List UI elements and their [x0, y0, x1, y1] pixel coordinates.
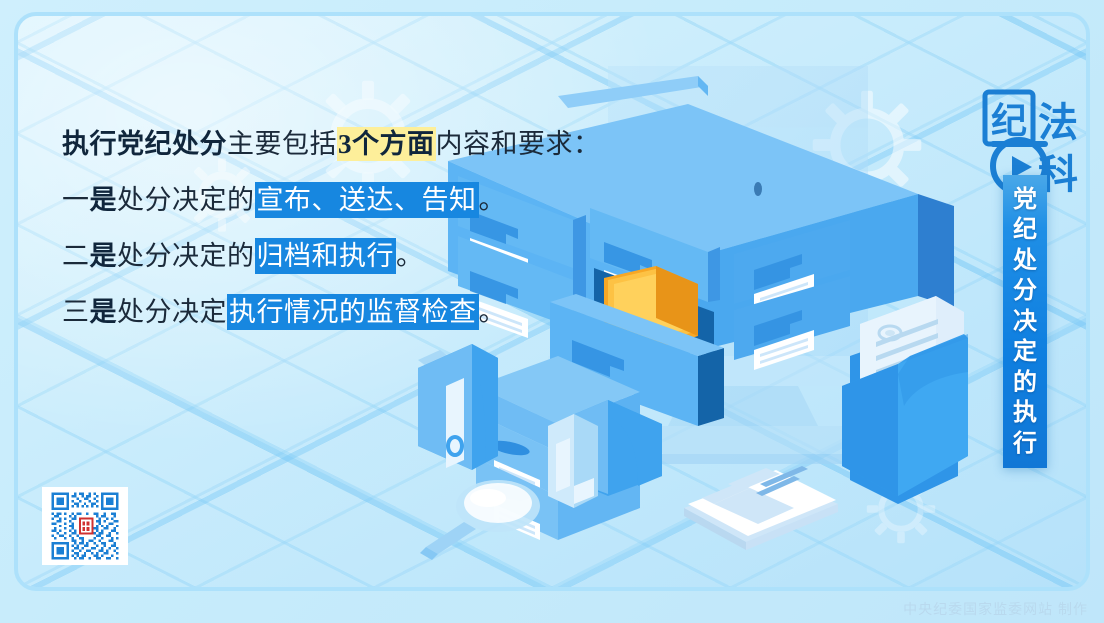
text-block: 执行党纪处分主要包括3个方面内容和要求： 一是处分决定的宣布、送达、告知。 二是… [62, 116, 622, 340]
qr-code[interactable] [42, 487, 128, 565]
point-1: 一是处分决定的宣布、送达、告知。 [62, 172, 622, 228]
banner-char-3: 分 [1013, 279, 1037, 303]
poster-frame: 执行党纪处分主要包括3个方面内容和要求： 一是处分决定的宣布、送达、告知。 二是… [14, 12, 1090, 591]
point-3-index: 三 [62, 297, 90, 327]
footer-credit: 中央纪委国家监委网站 制作 [903, 599, 1088, 619]
vertical-title-banner: 党 纪 处 分 决 定 的 执 行 [1003, 175, 1047, 468]
blue-folder-with-document [842, 296, 968, 504]
banner-char-2: 处 [1013, 249, 1037, 273]
point-2-lead: 处分决定的 [117, 241, 255, 271]
qr-center-seal [79, 517, 94, 534]
point-2-period: 。 [396, 241, 424, 271]
ring-binder [418, 344, 498, 470]
camera-dot [754, 182, 762, 196]
point-1-period: 。 [479, 185, 507, 215]
banner-char-0: 党 [1013, 188, 1037, 212]
point-2: 二是处分决定的归档和执行。 [62, 228, 622, 284]
banner-char-7: 执 [1013, 401, 1037, 425]
logo-char-fa: 法 [1038, 100, 1078, 145]
paper-stack [684, 466, 838, 550]
point-2-shi: 是 [90, 241, 118, 271]
point-3-highlight: 执行情况的监督检查 [227, 294, 479, 330]
headline: 执行党纪处分主要包括3个方面内容和要求： [62, 116, 622, 172]
banner-char-4: 决 [1013, 310, 1037, 334]
point-3-period: 。 [479, 297, 507, 327]
point-1-lead: 处分决定的 [117, 185, 255, 215]
magnifying-glass [420, 480, 540, 560]
banner-char-8: 行 [1013, 432, 1037, 456]
headline-seg-1: 主要包括 [227, 129, 337, 159]
point-2-index: 二 [62, 241, 90, 271]
banner-char-5: 定 [1013, 340, 1037, 364]
banner-char-1: 纪 [1013, 218, 1037, 242]
logo-char-ji: 纪 [991, 101, 1027, 141]
headline-seg-0: 执行党纪处分 [62, 129, 227, 159]
poster-root: 执行党纪处分主要包括3个方面内容和要求： 一是处分决定的宣布、送达、告知。 二是… [0, 0, 1104, 623]
point-3-shi: 是 [90, 297, 118, 327]
headline-seg-3: 内容和要求： [436, 129, 601, 159]
point-3-lead: 处分决定 [117, 297, 227, 327]
point-1-shi: 是 [90, 185, 118, 215]
headline-highlight-count: 3个方面 [337, 127, 436, 161]
point-1-index: 一 [62, 185, 90, 215]
point-3: 三是处分决定执行情况的监督检查。 [62, 284, 622, 340]
point-2-highlight: 归档和执行 [255, 238, 397, 274]
point-1-highlight: 宣布、送达、告知 [255, 182, 479, 218]
banner-char-6: 的 [1013, 371, 1037, 395]
